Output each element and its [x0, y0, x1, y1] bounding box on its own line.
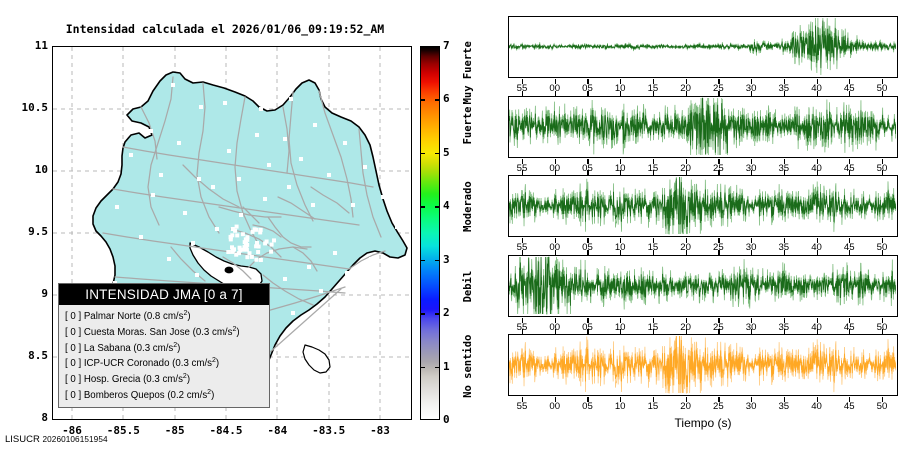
- colorbar-tick-label: 5: [443, 146, 450, 159]
- station-marker: [230, 233, 234, 237]
- station-marker: [289, 97, 293, 101]
- station-marker: [159, 173, 163, 177]
- legend-rows: [ 0 ] Palmar Norte (0.8 cm/s2)[ 0 ] Cues…: [59, 305, 269, 407]
- legend-item-tail: ): [211, 390, 214, 401]
- legend-item-accel: (0.2 cm/s: [167, 390, 207, 401]
- seismogram-panel[interactable]: [508, 334, 898, 396]
- legend-item[interactable]: [ 0 ] Bomberos Quepos (0.2 cm/s2): [65, 387, 269, 403]
- legend-item-tail: ): [216, 359, 219, 370]
- station-marker: [311, 203, 315, 207]
- page-title: Intensidad calculada el 2026/01/06_09:19…: [0, 22, 450, 36]
- station-marker: [237, 177, 241, 181]
- colorbar-category-label: Muy Fuerte: [462, 46, 474, 99]
- station-marker: [329, 347, 333, 351]
- map-ytick: 8.5: [4, 349, 48, 362]
- map-ytick: 9.5: [4, 225, 48, 238]
- station-marker: [343, 141, 347, 145]
- station-marker: [235, 233, 239, 237]
- seismogram-trace: [509, 17, 896, 76]
- station-marker: [171, 83, 175, 87]
- legend-item[interactable]: [ 0 ] Hosp. Grecia (0.3 cm/s2): [65, 371, 269, 387]
- map-ytick: 9: [4, 287, 48, 300]
- legend-item-station: Palmar Norte: [81, 311, 143, 322]
- colorbar-tick-label: 6: [443, 92, 450, 105]
- station-marker: [129, 153, 133, 157]
- legend-item-accel: (0.8 cm/s: [144, 311, 184, 322]
- seismogram-main-path: [509, 336, 896, 393]
- station-marker: [256, 250, 260, 254]
- station-marker: [197, 177, 201, 181]
- station-marker: [309, 335, 313, 339]
- station-marker: [115, 205, 119, 209]
- station-marker: [259, 228, 263, 232]
- intensity-colorbar[interactable]: [420, 46, 440, 420]
- map-ytick: 10.5: [4, 101, 48, 114]
- station-marker: [199, 105, 203, 109]
- station-marker: [234, 253, 238, 257]
- legend-item-level: [ 0 ]: [65, 311, 81, 322]
- station-marker: [241, 232, 245, 236]
- station-marker: [363, 165, 367, 169]
- colorbar-tick-label: 3: [443, 253, 450, 266]
- station-marker: [254, 244, 258, 248]
- station-marker: [283, 137, 287, 141]
- legend-item-level: [ 0 ]: [65, 327, 81, 338]
- agency-label: LISUCR: [5, 434, 40, 445]
- station-marker: [291, 311, 295, 315]
- seismogram-panel[interactable]: [508, 255, 898, 317]
- intensity-legend[interactable]: INTENSIDAD JMA [0 a 7] [ 0 ] Palmar Nort…: [58, 283, 270, 408]
- right-edge-mask: [900, 0, 910, 460]
- seismogram-x-axis-label: Tiempo (s): [508, 416, 898, 430]
- legend-item-level: [ 0 ]: [65, 343, 81, 354]
- station-marker: [215, 227, 219, 231]
- station-marker: [239, 213, 243, 217]
- station-marker: [149, 129, 153, 133]
- legend-item-tail: ): [177, 343, 180, 354]
- map-xtick: -83: [350, 424, 410, 437]
- seismogram-panel[interactable]: [508, 16, 898, 78]
- station-marker: [369, 257, 373, 261]
- seismogram-trace: [509, 335, 896, 394]
- legend-item-station: ICP-UCR Coronado: [81, 359, 172, 370]
- seismogram-trace: [509, 256, 896, 315]
- station-marker: [313, 123, 317, 127]
- legend-item[interactable]: [ 0 ] ICP-UCR Coronado (0.3 cm/s2): [65, 355, 269, 371]
- map-ytick: 11: [4, 39, 48, 52]
- station-marker: [177, 141, 181, 145]
- legend-item-station: La Sabana: [81, 343, 133, 354]
- station-marker: [243, 240, 247, 244]
- station-marker: [319, 289, 323, 293]
- legend-item-station: Cuesta Moras. San Jose: [81, 327, 192, 338]
- legend-item[interactable]: [ 0 ] Cuesta Moras. San Jose (0.3 cm/s2): [65, 324, 269, 340]
- colorbar-category-label: No sentido: [462, 313, 474, 420]
- station-marker: [211, 185, 215, 189]
- colorbar-tick-label: 4: [443, 199, 450, 212]
- station-marker: [250, 255, 254, 259]
- station-marker: [327, 173, 331, 177]
- seismogram-panel[interactable]: [508, 96, 898, 158]
- legend-item-station: Hosp. Grecia: [81, 375, 143, 386]
- legend-item-tail: ): [187, 375, 190, 386]
- colorbar-tick-label: 0: [443, 413, 450, 426]
- station-marker: [270, 243, 274, 247]
- station-marker: [269, 250, 273, 254]
- station-marker: [259, 258, 263, 262]
- seismogram-trace: [509, 176, 896, 235]
- station-marker: [381, 195, 385, 199]
- legend-item-accel: (0.3 cm/s: [133, 343, 173, 354]
- colorbar-category-label: Fuerte: [462, 99, 474, 152]
- seismogram-main-path: [509, 177, 896, 233]
- legend-item-tail: ): [187, 311, 190, 322]
- seismogram-main-path: [509, 98, 896, 155]
- legend-item[interactable]: [ 0 ] La Sabana (0.3 cm/s2): [65, 340, 269, 356]
- station-marker: [139, 235, 143, 239]
- footer-credit: LISUCR 20260106151954: [5, 434, 108, 445]
- station-marker: [223, 101, 227, 105]
- colorbar-tick-label: 7: [443, 39, 450, 52]
- station-marker: [233, 229, 237, 233]
- map-y-axis: 1110.5109.598.58: [0, 46, 48, 420]
- station-marker: [263, 241, 267, 245]
- map-ytick: 8: [4, 411, 48, 424]
- seismogram-trace: [509, 97, 896, 156]
- station-marker: [267, 163, 271, 167]
- station-marker: [333, 251, 337, 255]
- station-marker: [244, 245, 248, 249]
- station-marker: [191, 241, 195, 245]
- station-marker: [347, 359, 351, 363]
- map-ytick: 10: [4, 163, 48, 176]
- legend-item-level: [ 0 ]: [65, 390, 81, 401]
- station-marker: [255, 133, 259, 137]
- station-marker: [259, 107, 263, 111]
- legend-item-accel: (0.3 cm/s: [193, 327, 233, 338]
- station-marker: [245, 255, 249, 259]
- station-marker: [395, 225, 399, 229]
- legend-item-station: Bomberos Quepos: [81, 390, 167, 401]
- station-marker: [227, 149, 231, 153]
- timestamp-stamp: 20260106151954: [42, 435, 107, 444]
- seismogram-stack: 550005101520253035404550Palmar NorteAcel…: [500, 16, 910, 446]
- station-marker: [167, 257, 171, 261]
- station-marker: [183, 211, 187, 215]
- colorbar-category-label: Debil: [462, 260, 474, 313]
- station-marker: [307, 265, 311, 269]
- station-marker: [248, 251, 252, 255]
- legend-item-level: [ 0 ]: [65, 359, 81, 370]
- station-marker: [263, 197, 267, 201]
- station-marker: [195, 273, 199, 277]
- station-marker: [299, 157, 303, 161]
- legend-item-level: [ 0 ]: [65, 375, 81, 386]
- legend-item[interactable]: [ 0 ] Palmar Norte (0.8 cm/s2): [65, 308, 269, 324]
- station-marker: [351, 203, 355, 207]
- station-marker: [281, 353, 285, 357]
- legend-title: INTENSIDAD JMA [0 a 7]: [59, 284, 269, 305]
- station-marker: [232, 247, 236, 251]
- station-marker: [283, 277, 287, 281]
- legend-item-accel: (0.3 cm/s: [143, 375, 183, 386]
- colorbar-tick-label: 2: [443, 306, 450, 319]
- colorbar-category-label: Moderado: [462, 153, 474, 260]
- seismogram-main-path: [509, 21, 896, 69]
- station-marker: [345, 271, 349, 275]
- colorbar-tick-label: 1: [443, 360, 450, 373]
- seismogram-panel[interactable]: [508, 175, 898, 237]
- station-marker: [254, 228, 258, 232]
- station-marker: [272, 238, 276, 242]
- station-marker: [287, 185, 291, 189]
- station-marker: [226, 250, 230, 254]
- station-marker: [238, 246, 242, 250]
- station-marker: [254, 258, 258, 262]
- station-marker: [151, 193, 155, 197]
- legend-item-tail: ): [236, 327, 239, 338]
- station-marker: [235, 225, 239, 229]
- legend-item-accel: (0.3 cm/s: [172, 359, 212, 370]
